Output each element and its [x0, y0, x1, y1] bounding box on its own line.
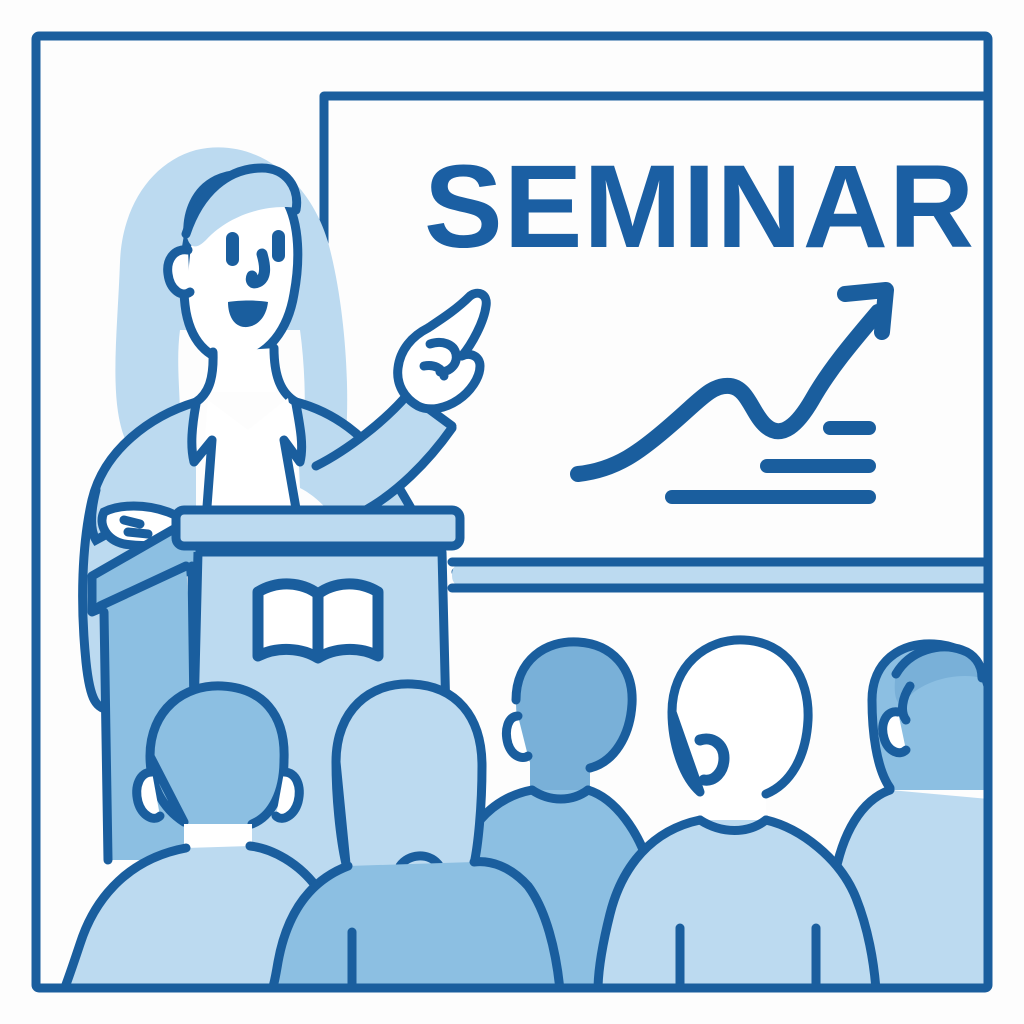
board-title: SEMINAR — [424, 141, 975, 273]
presenter-eye-left — [226, 232, 239, 266]
presenter-eye-right — [272, 230, 285, 262]
chart-bar-middle — [760, 459, 876, 473]
audience-2-head — [336, 684, 482, 870]
seminar-illustration: SEMINAR — [0, 0, 1024, 1024]
chart-bar-top — [823, 421, 876, 435]
lectern-top-slab — [176, 510, 460, 546]
audience-1-neck — [184, 824, 252, 850]
chart-bar-bottom — [665, 490, 876, 504]
presenter-neck — [212, 348, 276, 392]
illustration-canvas: SEMINAR — [0, 0, 1024, 1024]
